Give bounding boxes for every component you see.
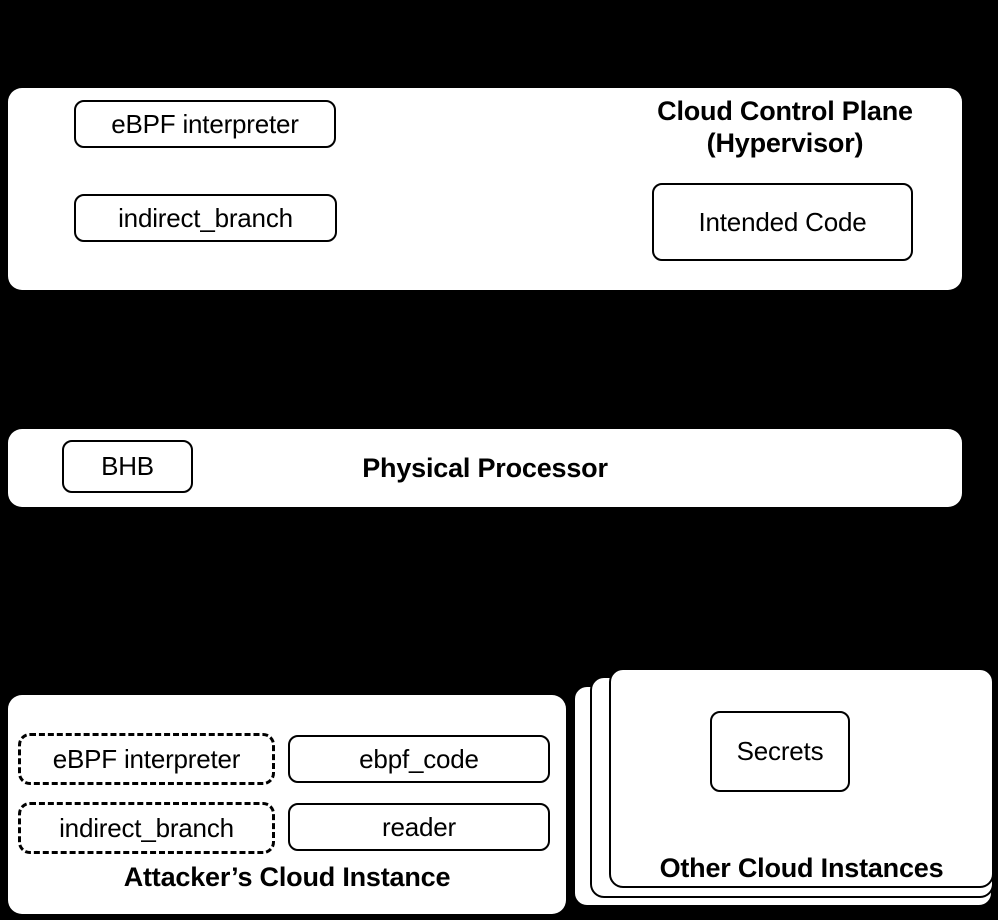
attacker-ebpf-code-label: ebpf_code <box>359 744 479 775</box>
control-plane-ebpf-interpreter-label: eBPF interpreter <box>111 109 299 140</box>
control-plane-ebpf-interpreter-box[interactable]: eBPF interpreter <box>74 100 336 148</box>
control-plane-indirect-branch-box[interactable]: indirect_branch <box>74 194 337 242</box>
secrets-label: Secrets <box>737 736 824 767</box>
other-cloud-instances-title: Other Cloud Instances <box>609 853 994 885</box>
attacker-ebpf-interpreter-box[interactable]: eBPF interpreter <box>18 733 275 785</box>
physical-processor-title: Physical Processor <box>210 453 760 485</box>
attacker-ebpf-interpreter-label: eBPF interpreter <box>53 744 241 775</box>
cloud-control-plane-title: Cloud Control Plane (Hypervisor) <box>600 96 970 160</box>
attacker-reader-label: reader <box>382 812 456 843</box>
control-plane-indirect-branch-label: indirect_branch <box>118 203 293 234</box>
bhb-label: BHB <box>101 451 154 482</box>
bhb-box[interactable]: BHB <box>62 440 193 493</box>
diagram-canvas: Cloud Control Plane (Hypervisor) eBPF in… <box>0 0 998 920</box>
attacker-ebpf-code-box[interactable]: ebpf_code <box>288 735 550 783</box>
attacker-indirect-branch-label: indirect_branch <box>59 813 234 844</box>
intended-code-label: Intended Code <box>699 207 867 238</box>
attacker-indirect-branch-box[interactable]: indirect_branch <box>18 802 275 854</box>
secrets-box[interactable]: Secrets <box>710 711 850 792</box>
attacker-cloud-instance-title: Attacker’s Cloud Instance <box>8 862 566 894</box>
attacker-reader-box[interactable]: reader <box>288 803 550 851</box>
intended-code-box[interactable]: Intended Code <box>652 183 913 261</box>
